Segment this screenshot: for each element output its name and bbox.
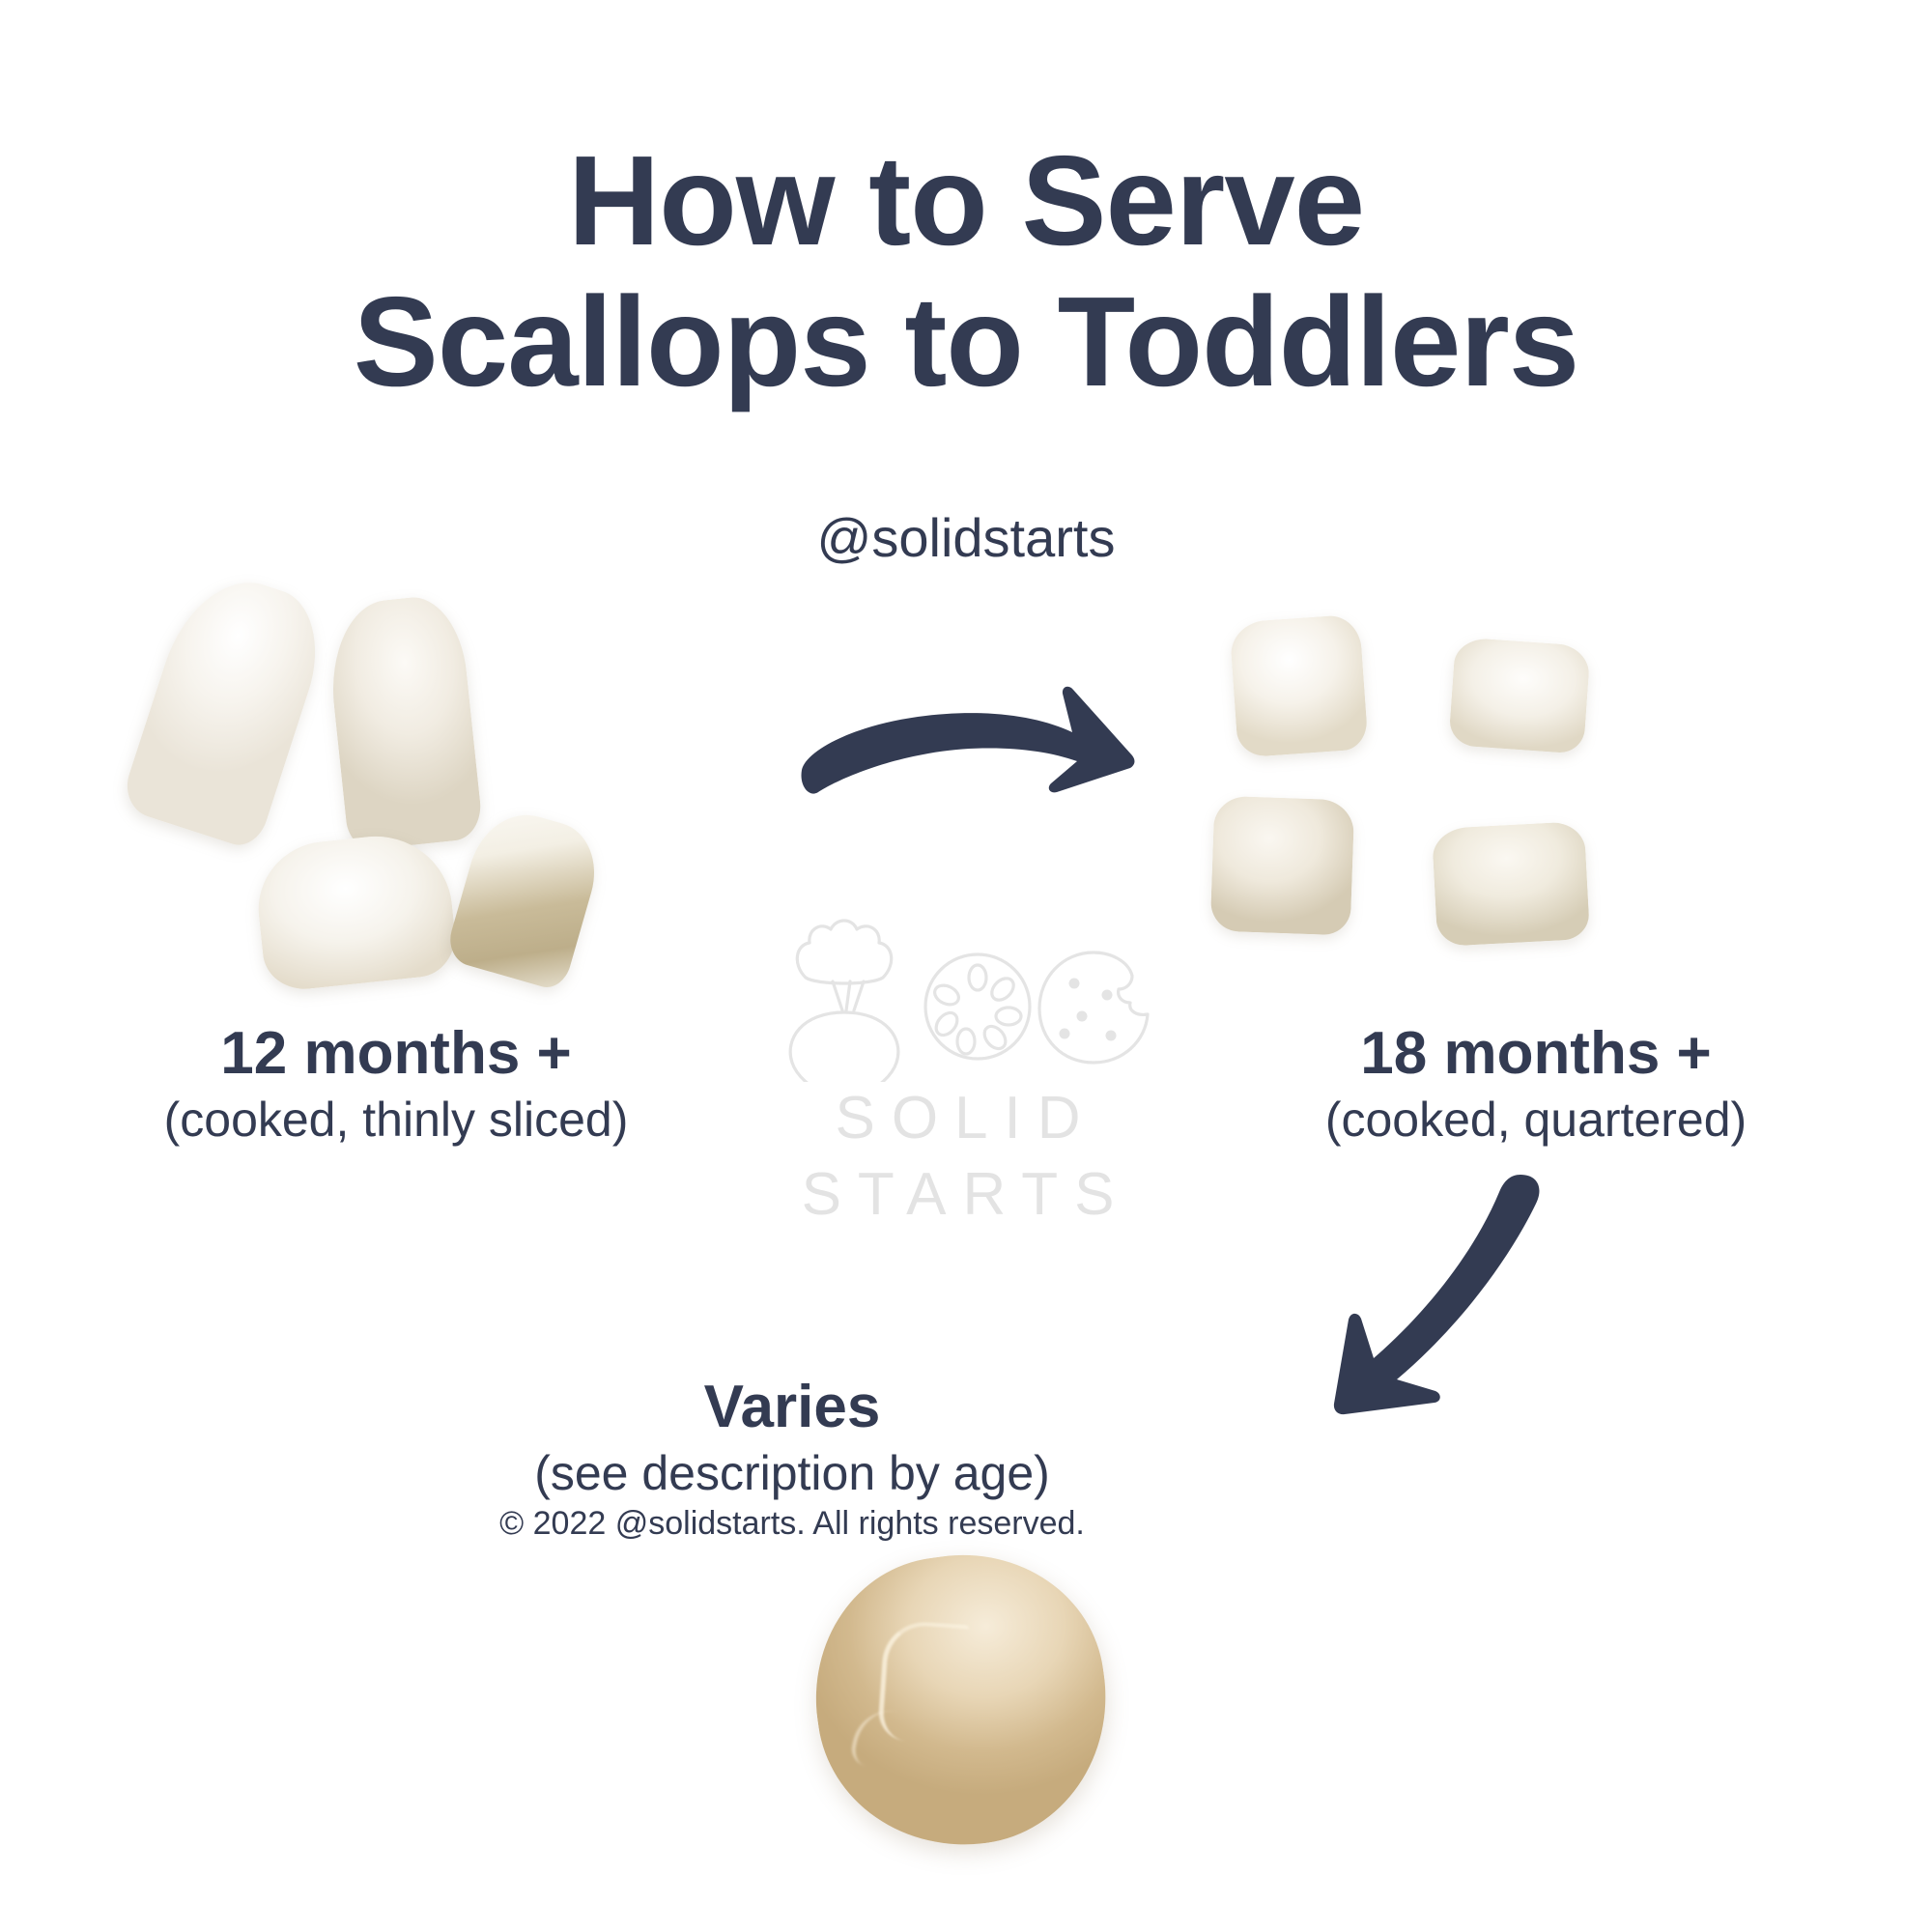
copyright-notice: © 2022 @solidstarts. All rights reserved… bbox=[425, 1505, 1159, 1543]
whole-scallop bbox=[798, 1537, 1125, 1864]
scallop-quarter bbox=[1432, 821, 1590, 947]
arrow-12-to-18-icon bbox=[782, 647, 1150, 811]
brand-handle: @solidstarts bbox=[0, 506, 1932, 569]
watermark-icons bbox=[763, 889, 1169, 1082]
preparation-label: (cooked, thinly sliced) bbox=[58, 1092, 734, 1149]
bitten-cookie-icon bbox=[1039, 952, 1148, 1063]
page-title: How to Serve Scallops to Toddlers bbox=[0, 137, 1932, 406]
scallop-slice bbox=[324, 592, 484, 851]
watermark-line-1: SOLID bbox=[763, 1080, 1169, 1156]
age-label: Varies bbox=[425, 1376, 1159, 1439]
scallop-quarter bbox=[1210, 796, 1355, 936]
solid-starts-watermark: SOLID STARTS bbox=[763, 889, 1169, 1294]
arrow-18-to-varies-icon bbox=[1256, 1159, 1623, 1488]
lotus-root-slice-icon bbox=[925, 954, 1030, 1059]
food-photo-12-months bbox=[145, 580, 686, 995]
scallop-quarter bbox=[1448, 637, 1590, 753]
age-label: 12 months + bbox=[58, 1022, 734, 1086]
radish-icon bbox=[790, 921, 898, 1082]
preparation-label: (see description by age) bbox=[425, 1445, 1159, 1502]
stage-label-18-months: 18 months + (cooked, quartered) bbox=[1198, 1022, 1874, 1149]
preparation-label: (cooked, quartered) bbox=[1198, 1092, 1874, 1149]
title-line-2: Scallops to Toddlers bbox=[0, 278, 1932, 406]
scallop-slice bbox=[252, 829, 460, 993]
watermark-line-2: STARTS bbox=[763, 1156, 1169, 1233]
infographic-canvas: How to Serve Scallops to Toddlers @solid… bbox=[0, 0, 1932, 1932]
food-photo-18-months bbox=[1212, 618, 1666, 985]
scallop-slice bbox=[119, 563, 336, 851]
stage-label-12-months: 12 months + (cooked, thinly sliced) bbox=[58, 1022, 734, 1149]
stage-label-varies: Varies (see description by age) bbox=[425, 1376, 1159, 1502]
age-label: 18 months + bbox=[1198, 1022, 1874, 1086]
scallop-quarter bbox=[1229, 613, 1368, 757]
title-line-1: How to Serve bbox=[0, 137, 1932, 265]
watermark-wordmark: SOLID STARTS bbox=[763, 1080, 1169, 1234]
food-photo-varies bbox=[816, 1555, 1135, 1874]
